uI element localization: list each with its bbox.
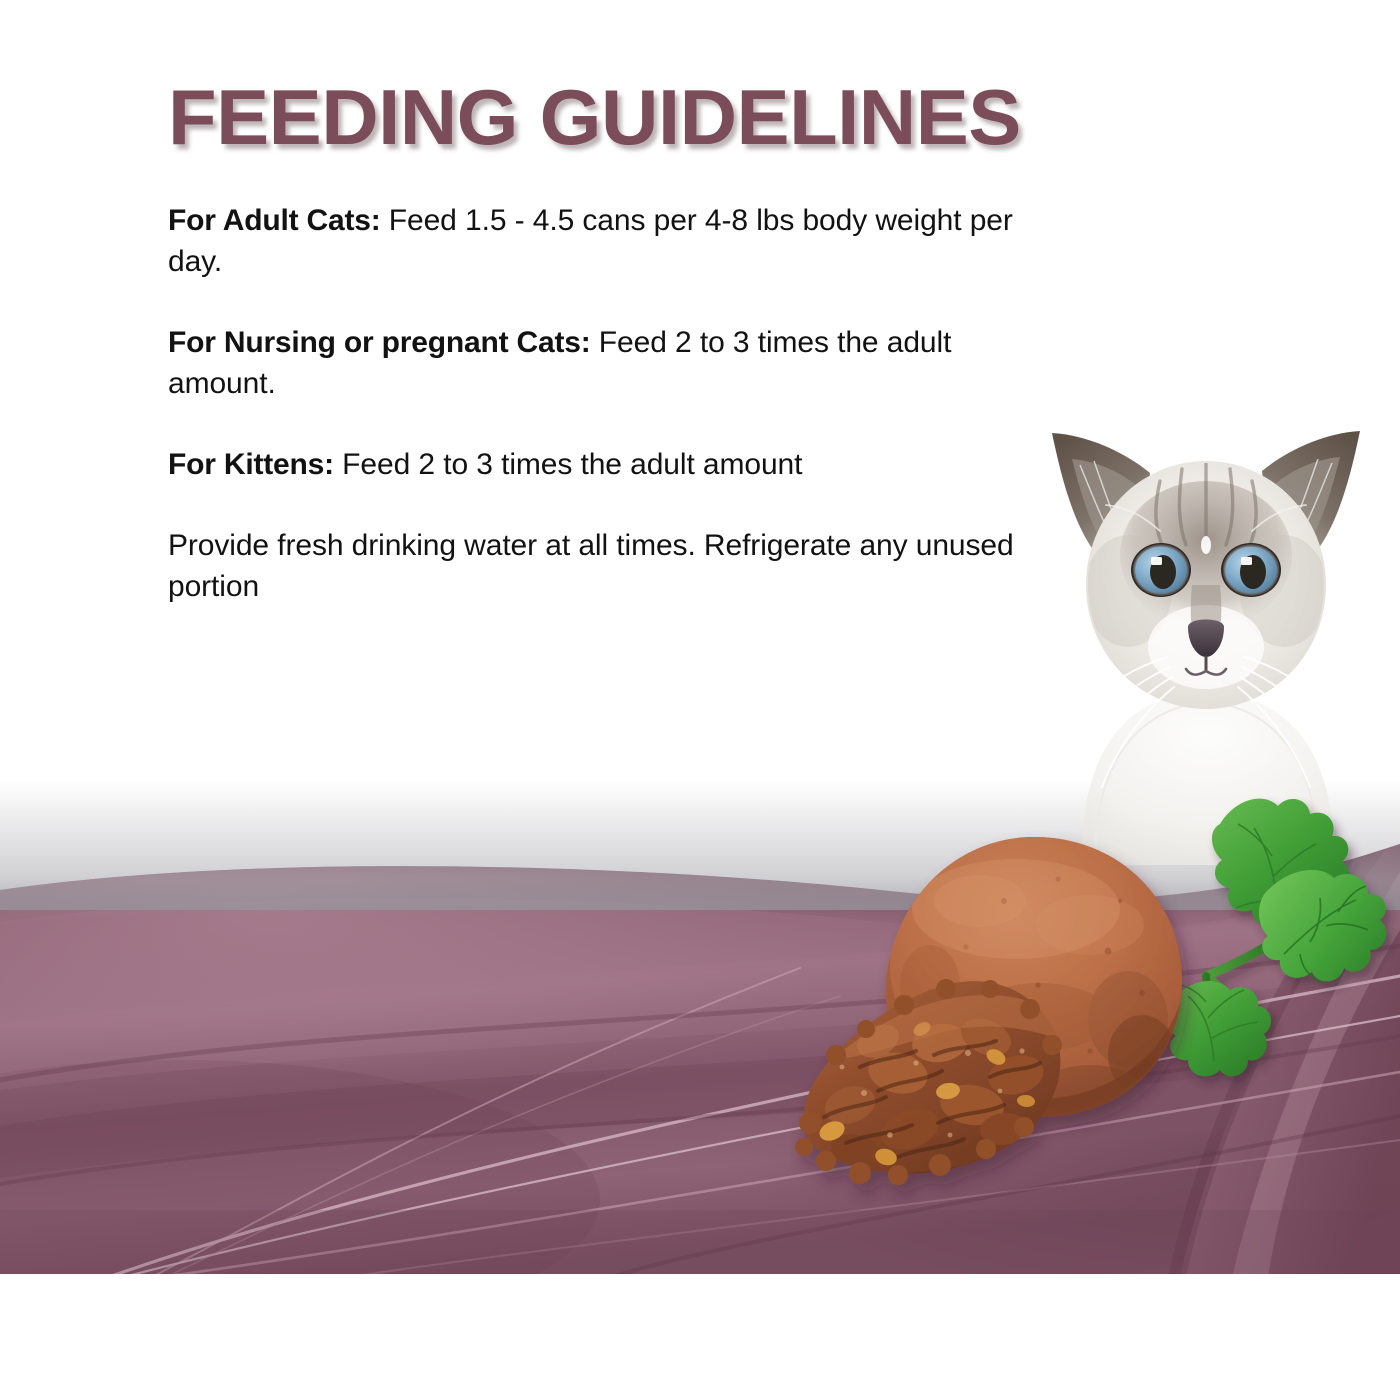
- guideline-nursing-pregnant-cats-label: For Nursing or pregnant Cats:: [168, 326, 591, 359]
- guideline-nursing-pregnant-cats: For Nursing or pregnant Cats: Feed 2 to …: [168, 322, 1028, 404]
- guideline-kittens: For Kittens: Feed 2 to 3 times the adult…: [168, 444, 1028, 485]
- guideline-adult-cats: For Adult Cats: Feed 1.5 - 4.5 cans per …: [168, 200, 1028, 282]
- feeding-copy-block: For Adult Cats: Feed 1.5 - 4.5 cans per …: [168, 200, 1028, 607]
- guideline-adult-cats-label: For Adult Cats:: [168, 204, 381, 237]
- pate-loaf-photo: [790, 805, 1210, 1225]
- guideline-kittens-label: For Kittens:: [168, 448, 334, 481]
- page-title: FEEDING GUIDELINES: [168, 78, 1021, 156]
- water-storage-note: Provide fresh drinking water at all time…: [168, 525, 1028, 607]
- feeding-guidelines-page: FEEDING GUIDELINES For Adult Cats: Feed …: [0, 0, 1400, 1400]
- guideline-kittens-text: Feed 2 to 3 times the adult amount: [334, 448, 802, 481]
